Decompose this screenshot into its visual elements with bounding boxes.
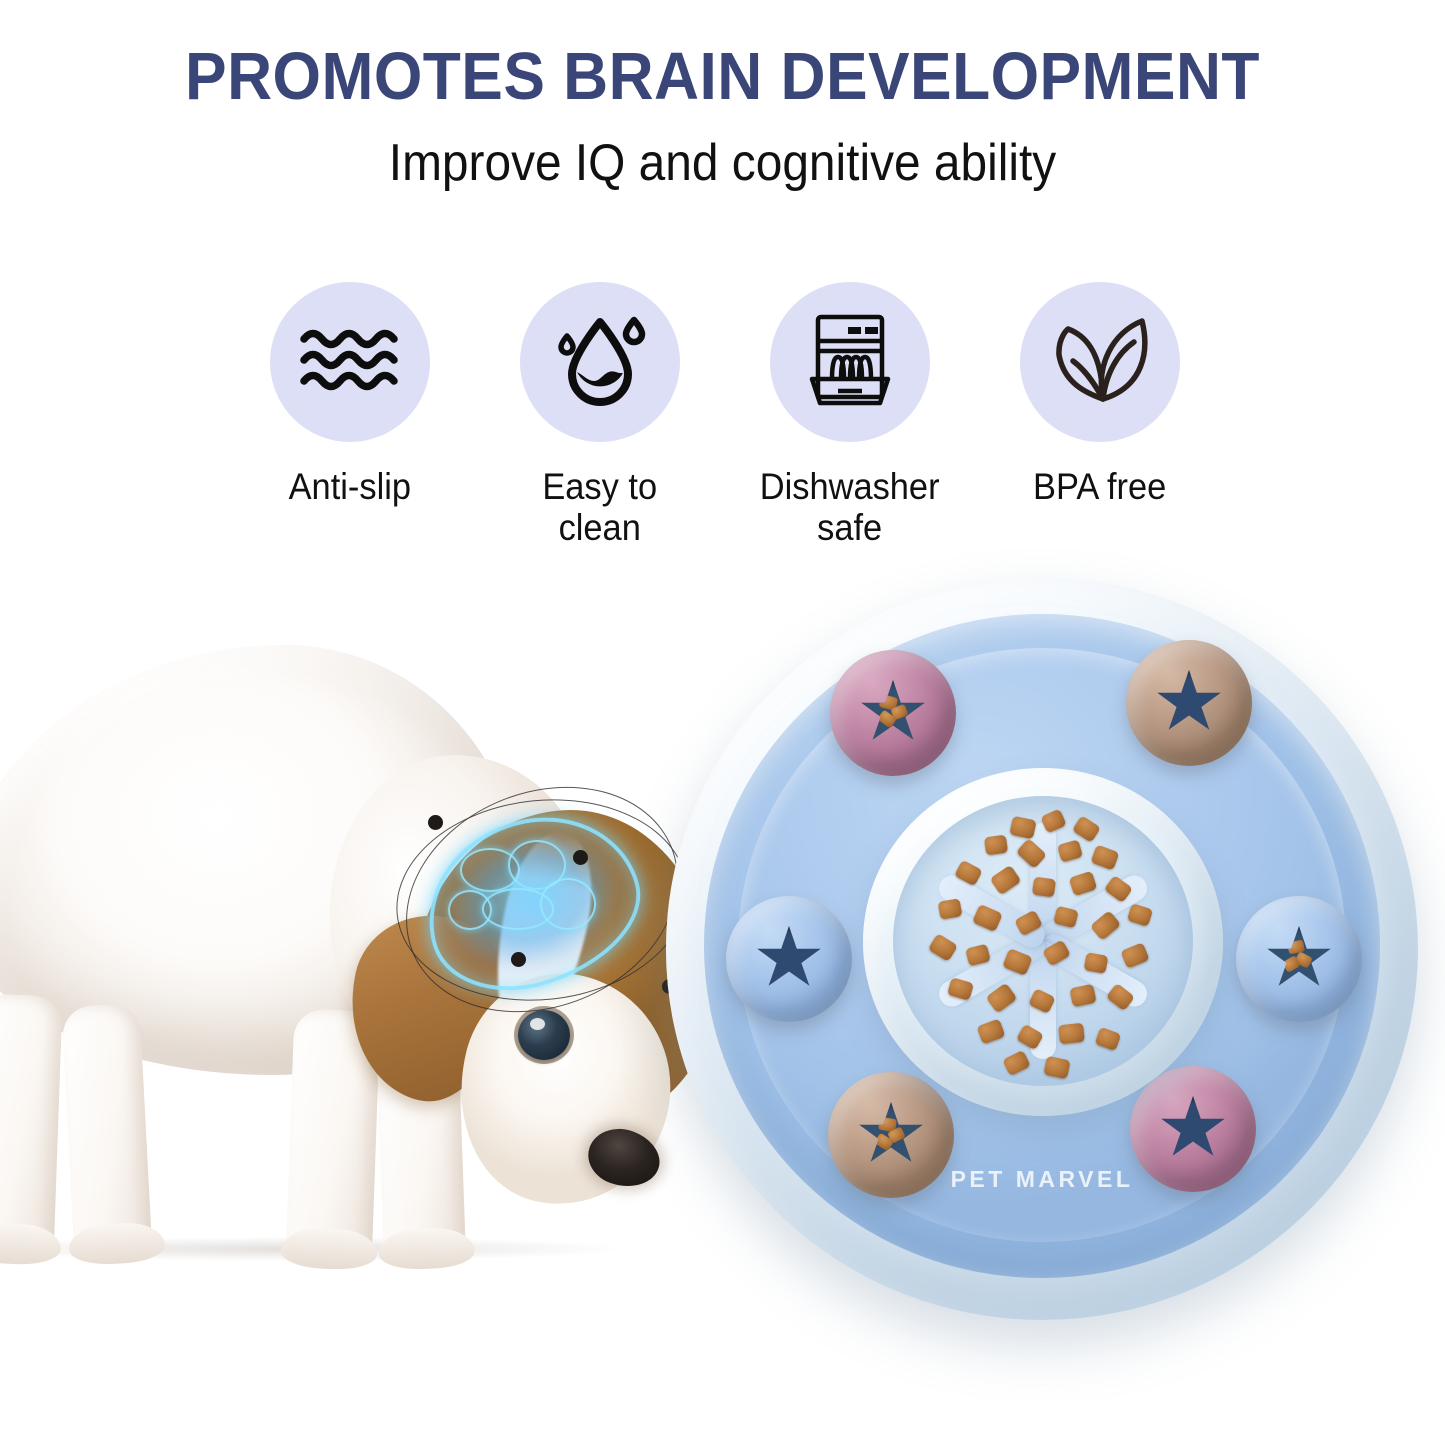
kibble bbox=[986, 983, 1018, 1014]
center-bowl-well bbox=[893, 796, 1193, 1086]
kibble bbox=[1009, 816, 1036, 840]
header-section: PROMOTES BRAIN DEVELOPMENT Improve IQ an… bbox=[0, 0, 1445, 210]
feature-icon-circle bbox=[270, 282, 430, 442]
water-drop-icon bbox=[552, 310, 648, 415]
kibble bbox=[1095, 1027, 1122, 1051]
puppy-paw bbox=[378, 1227, 475, 1270]
kibble bbox=[1069, 871, 1098, 896]
kibble bbox=[1127, 903, 1153, 927]
feature-anti-slip: Anti-slip bbox=[225, 282, 475, 507]
puppy-eye bbox=[518, 1010, 570, 1060]
feature-label: Easy to clean bbox=[543, 466, 658, 549]
center-food-bowl bbox=[863, 768, 1223, 1116]
puzzle-slider-top-left[interactable] bbox=[830, 650, 956, 776]
feature-icon-circle bbox=[1020, 282, 1180, 442]
kibble bbox=[990, 865, 1022, 896]
puppy-leg bbox=[0, 994, 63, 1262]
puzzle-slider-left[interactable] bbox=[726, 896, 852, 1022]
feature-label: Anti-slip bbox=[289, 466, 411, 507]
waves-icon bbox=[298, 321, 402, 404]
kibble bbox=[1043, 1056, 1070, 1080]
product-image-slow-feeder-bowl: PET MARVEL bbox=[666, 578, 1418, 1320]
kibble bbox=[1058, 1023, 1085, 1045]
kibble bbox=[984, 835, 1008, 856]
feature-easy-to-clean: Easy to clean bbox=[475, 282, 725, 549]
kibble bbox=[1090, 844, 1119, 870]
kibble bbox=[1002, 1050, 1031, 1076]
feature-dishwasher-safe: Dishwasher safe bbox=[725, 282, 975, 549]
kibble bbox=[1072, 815, 1101, 843]
leaf-icon bbox=[1046, 311, 1154, 414]
kibble bbox=[938, 898, 963, 920]
kibble bbox=[1084, 952, 1109, 974]
kibble bbox=[976, 1018, 1005, 1044]
kibble bbox=[1032, 877, 1056, 898]
feature-icon-circle bbox=[770, 282, 930, 442]
page-subtitle: Improve IQ and cognitive ability bbox=[58, 133, 1387, 193]
puppy-paw bbox=[0, 1222, 62, 1265]
brand-logo-text: PET MARVEL bbox=[666, 1166, 1418, 1193]
dishwasher-icon bbox=[800, 309, 900, 416]
page-title: PROMOTES BRAIN DEVELOPMENT bbox=[51, 38, 1395, 115]
puppy-paw bbox=[280, 1227, 377, 1270]
kibble bbox=[1120, 942, 1149, 969]
feature-badges-row: Anti-slip Easy to clean bbox=[225, 282, 1225, 552]
kibble bbox=[1069, 984, 1096, 1008]
puppy-leg bbox=[61, 1003, 152, 1262]
feature-icon-circle bbox=[520, 282, 680, 442]
puzzle-slider-top-right[interactable] bbox=[1126, 640, 1252, 766]
feature-bpa-free: BPA free bbox=[975, 282, 1225, 507]
puppy-photo bbox=[0, 625, 740, 1265]
feature-label: Dishwasher safe bbox=[760, 466, 940, 549]
kibble bbox=[928, 933, 958, 962]
puzzle-slider-right[interactable] bbox=[1236, 896, 1362, 1022]
kibble bbox=[1057, 839, 1083, 862]
feature-label: BPA free bbox=[1033, 466, 1166, 507]
